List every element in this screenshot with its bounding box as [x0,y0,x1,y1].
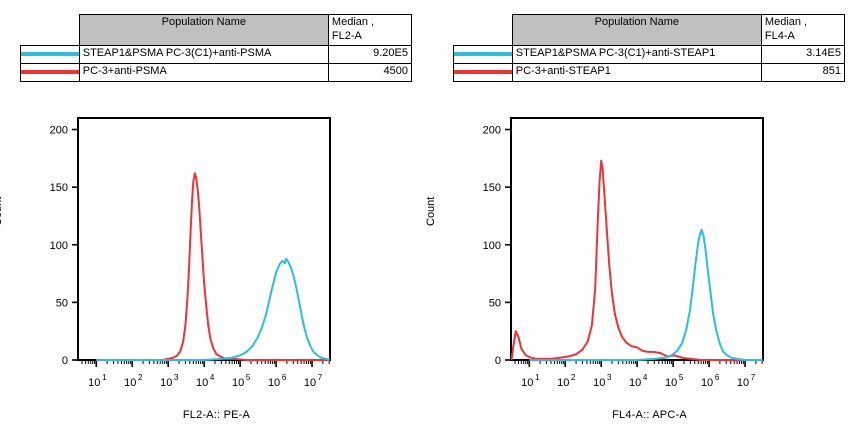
legend-header-median: Median , FL2-A [328,15,411,46]
legend-swatch-cell [454,63,513,81]
x-axis-title: FL2-A:: PE-A [0,409,433,421]
legend-swatch-cell [21,45,80,63]
legend-header-median: Median , FL4-A [761,15,844,46]
y-axis-title: Count [0,197,4,226]
svg-text:10: 10 [593,377,605,389]
svg-text:100: 100 [50,240,68,252]
svg-text:1: 1 [535,373,540,382]
cyan-line-swatch [21,52,79,56]
legend-population-name: STEAP1&PSMA PC-3(C1)+anti-STEAP1 [512,45,761,63]
x-axis-title: FL4-A:: APC-A [433,409,866,421]
svg-text:10: 10 [196,377,208,389]
svg-text:7: 7 [318,373,323,382]
histogram-svg: 050100150200101102103104105106107 [433,108,866,443]
red-line-swatch [21,70,79,74]
svg-text:10: 10 [665,377,677,389]
svg-text:10: 10 [737,377,749,389]
legend-header-swatch [21,15,80,46]
svg-text:7: 7 [751,373,756,382]
svg-text:1: 1 [102,373,107,382]
svg-text:10: 10 [521,377,533,389]
svg-text:200: 200 [50,125,68,137]
panel-fl2: Population Name Median , FL2-A STEAP1&PS… [0,0,433,443]
table-row[interactable]: PC-3+anti-PSMA 4500 [21,63,412,81]
legend-header-swatch [454,15,513,46]
svg-text:150: 150 [50,182,68,194]
svg-text:10: 10 [629,377,641,389]
legend-population-name: PC-3+anti-STEAP1 [512,63,761,81]
svg-text:100: 100 [483,240,501,252]
legend-median-value: 851 [761,63,844,81]
legend-population-name: STEAP1&PSMA PC-3(C1)+anti-PSMA [79,45,328,63]
svg-text:2: 2 [138,373,143,382]
svg-text:6: 6 [715,373,720,382]
table-row[interactable]: PC-3+anti-STEAP1 851 [454,63,845,81]
svg-text:10: 10 [232,377,244,389]
cyan-line-swatch [454,52,512,56]
svg-text:3: 3 [174,373,179,382]
histogram-plot-fl2: 050100150200101102103104105106107 Count … [0,108,433,443]
svg-text:5: 5 [679,373,684,382]
svg-text:10: 10 [304,377,316,389]
table-row[interactable]: STEAP1&PSMA PC-3(C1)+anti-PSMA 9.20E5 [21,45,412,63]
svg-text:10: 10 [701,377,713,389]
legend-header-row: Population Name Median , FL4-A [454,15,845,46]
legend-header-row: Population Name Median , FL2-A [21,15,412,46]
legend-population-name: PC-3+anti-PSMA [79,63,328,81]
legend-header-population: Population Name [79,15,328,46]
histogram-svg: 050100150200101102103104105106107 [0,108,433,443]
svg-text:10: 10 [124,377,136,389]
y-axis-title: Count [425,197,437,226]
svg-text:200: 200 [483,125,501,137]
red-line-swatch [454,70,512,74]
svg-text:4: 4 [210,373,215,382]
legend-header-population: Population Name [512,15,761,46]
svg-text:10: 10 [268,377,280,389]
legend-median-value: 9.20E5 [328,45,411,63]
legend-median-value: 4500 [328,63,411,81]
table-row[interactable]: STEAP1&PSMA PC-3(C1)+anti-STEAP1 3.14E5 [454,45,845,63]
svg-text:0: 0 [62,355,68,367]
svg-text:10: 10 [557,377,569,389]
svg-text:50: 50 [56,297,68,309]
svg-text:0: 0 [495,355,501,367]
svg-text:4: 4 [643,373,648,382]
legend-swatch-cell [21,63,80,81]
svg-text:10: 10 [160,377,172,389]
legend-table-fl2: Population Name Median , FL2-A STEAP1&PS… [20,14,412,82]
legend-swatch-cell [454,45,513,63]
svg-text:3: 3 [607,373,612,382]
legend-median-value: 3.14E5 [761,45,844,63]
svg-text:5: 5 [246,373,251,382]
histogram-plot-fl4: 050100150200101102103104105106107 Count … [433,108,866,443]
svg-text:6: 6 [282,373,287,382]
svg-text:2: 2 [571,373,576,382]
svg-text:150: 150 [483,182,501,194]
legend-table-fl4: Population Name Median , FL4-A STEAP1&PS… [453,14,845,82]
panel-fl4: Population Name Median , FL4-A STEAP1&PS… [433,0,866,443]
svg-text:50: 50 [489,297,501,309]
svg-text:10: 10 [88,377,100,389]
